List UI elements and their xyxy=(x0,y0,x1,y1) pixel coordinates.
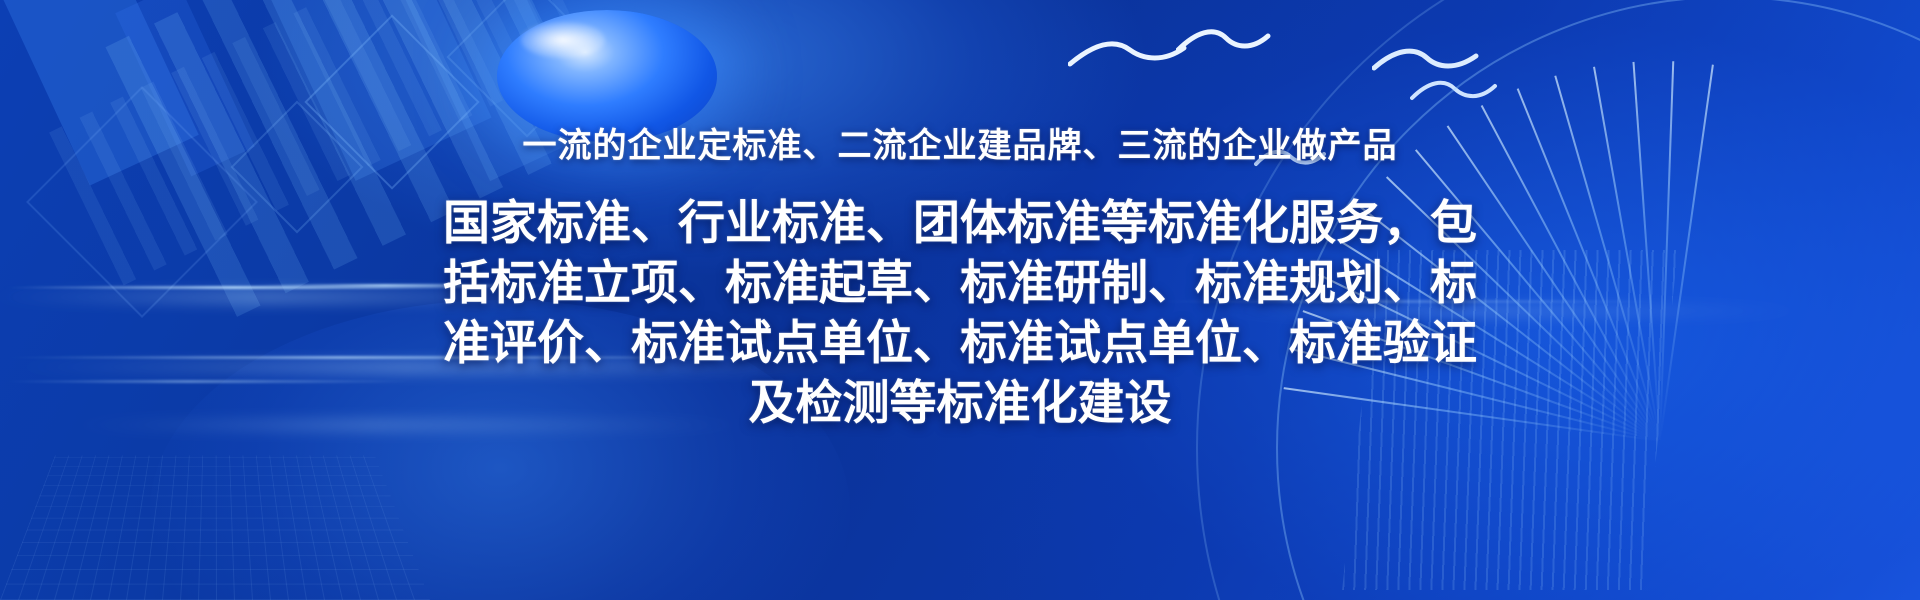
banner-body-text: 国家标准、行业标准、团体标准等标准化服务，包括标准立项、标准起草、标准研制、标准… xyxy=(430,193,1490,433)
promotional-banner: 一流的企业定标准、二流企业建品牌、三流的企业做产品 国家标准、行业标准、团体标准… xyxy=(0,0,1920,600)
banner-headline: 一流的企业定标准、二流企业建品牌、三流的企业做产品 xyxy=(523,118,1398,167)
banner-content: 一流的企业定标准、二流企业建品牌、三流的企业做产品 国家标准、行业标准、团体标准… xyxy=(0,0,1920,600)
